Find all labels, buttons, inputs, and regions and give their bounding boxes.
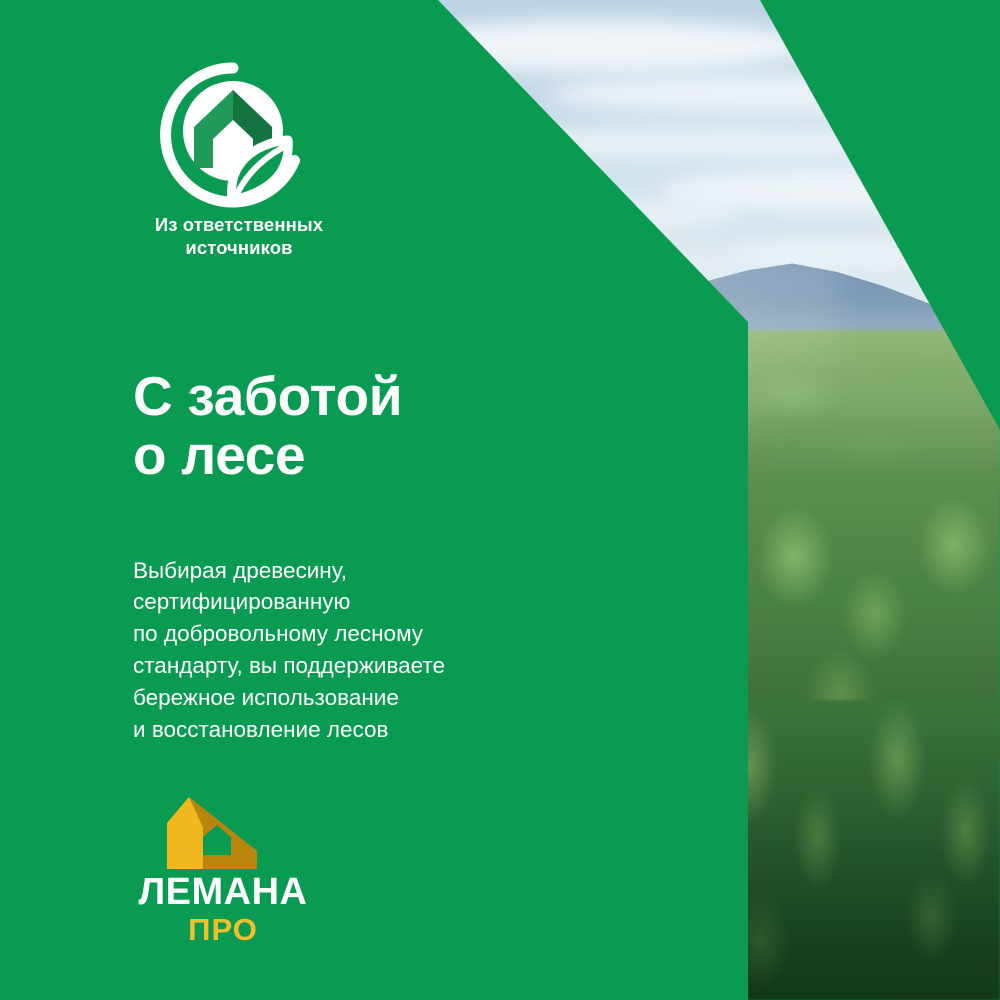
- responsible-sources-badge: Из ответственных источников: [133, 62, 373, 262]
- responsible-sources-circle-house-leaf-icon: [160, 62, 306, 208]
- body-paragraph: Выбирая древесину, сертифицированную по …: [133, 555, 445, 747]
- brand-wordmark: ЛЕМАНА: [133, 873, 313, 911]
- page-headline: С заботой о лесе: [133, 367, 402, 486]
- lemana-pro-house-icon: [133, 793, 313, 871]
- poster-canvas: Из ответственных источников С заботой о …: [0, 0, 1000, 1000]
- lemana-pro-logo: ЛЕМАНА ПРО: [133, 793, 313, 945]
- brand-subwordmark: ПРО: [133, 914, 313, 945]
- badge-caption: Из ответственных источников: [133, 214, 345, 259]
